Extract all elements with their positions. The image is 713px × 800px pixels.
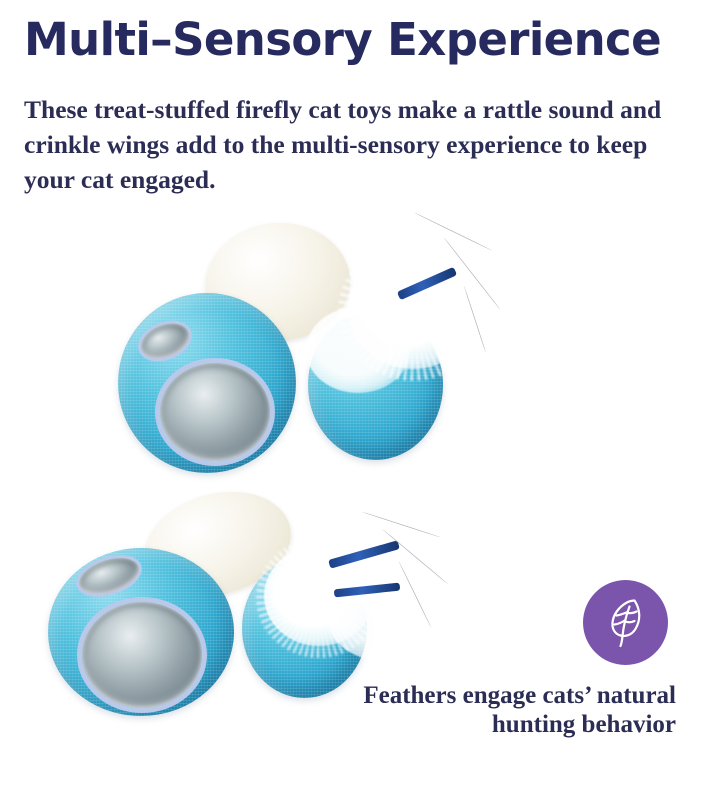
toy-window-rim [77,597,207,713]
feather-icon [604,597,648,649]
badge-caption: Feathers engage cats’ natural hunting be… [336,681,676,739]
feather-plume-secondary [306,307,410,393]
toy-cluster-upper [110,215,510,480]
feather-badge [583,580,668,665]
page-title: Multi–Sensory Experience [24,14,684,66]
description-paragraph: These treat-stuffed firefly cat toys mak… [24,92,674,197]
toy-window-rim [155,358,275,466]
toy-whisker [362,511,440,537]
infographic-page: Multi–Sensory Experience These treat-stu… [0,0,713,800]
